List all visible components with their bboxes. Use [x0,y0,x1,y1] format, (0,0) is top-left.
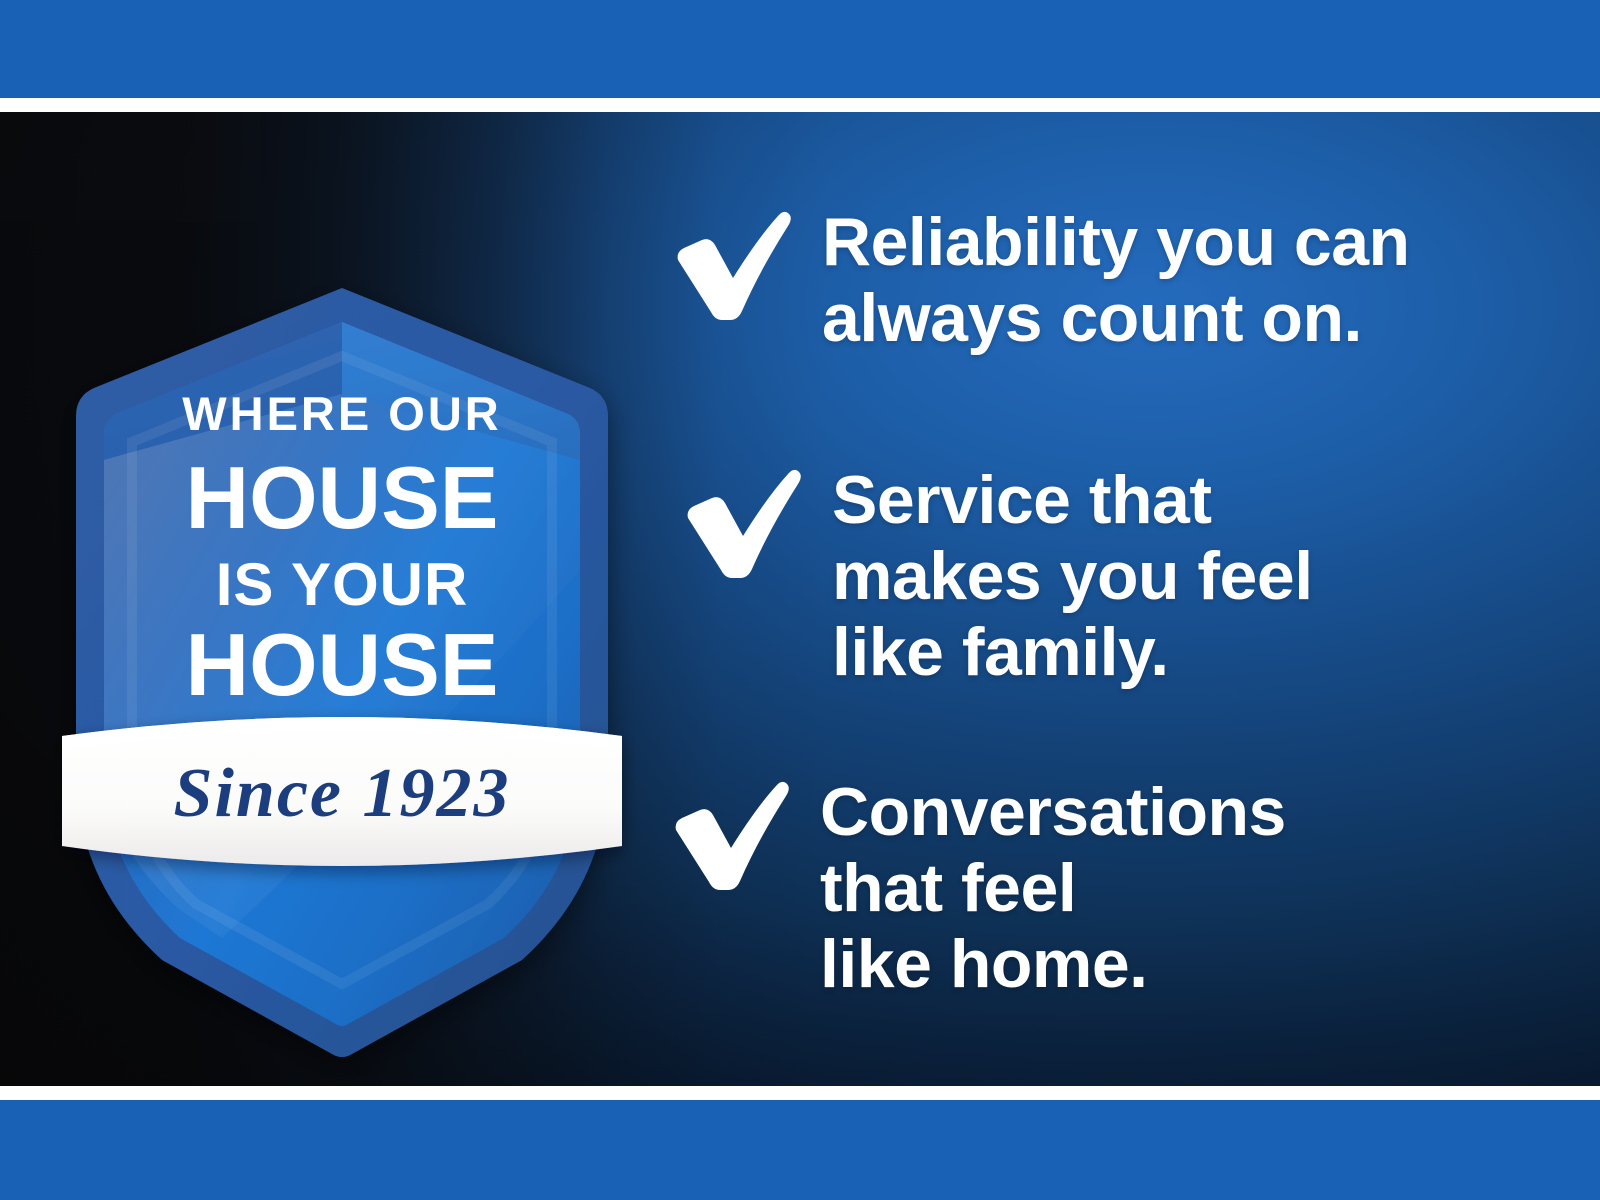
badge-line-3: IS YOUR [216,551,469,618]
list-item-label: Conversations that feel like home. [820,774,1286,1002]
benefit-list: Reliability you can always count on. Ser… [660,112,1540,1086]
list-item-label: Service that makes you feel like family. [832,462,1313,690]
list-item-label: Reliability you can always count on. [822,204,1410,356]
artwork-canvas: WHERE OUR HOUSE IS YOUR HOUSE Since 1923 [0,112,1600,1086]
ribbon-label: Since 1923 [174,755,511,832]
list-item: Service that makes you feel like family. [682,462,1313,690]
checkmark-icon [672,208,794,320]
since-ribbon: Since 1923 [62,717,622,866]
bottom-brand-band [0,1100,1600,1200]
house-shield-badge: WHERE OUR HOUSE IS YOUR HOUSE Since 1923 [52,270,632,1070]
badge-line-4: HOUSE [186,615,499,714]
top-white-divider [0,98,1600,112]
list-item: Reliability you can always count on. [672,204,1410,356]
top-brand-band [0,0,1600,98]
badge-line-1: WHERE OUR [182,387,501,440]
checkmark-icon [682,466,804,578]
bottom-white-divider [0,1086,1600,1100]
list-item: Conversations that feel like home. [670,774,1286,1002]
promo-graphic: WHERE OUR HOUSE IS YOUR HOUSE Since 1923 [0,0,1600,1200]
badge-line-2: HOUSE [186,448,499,547]
checkmark-icon [670,778,792,890]
